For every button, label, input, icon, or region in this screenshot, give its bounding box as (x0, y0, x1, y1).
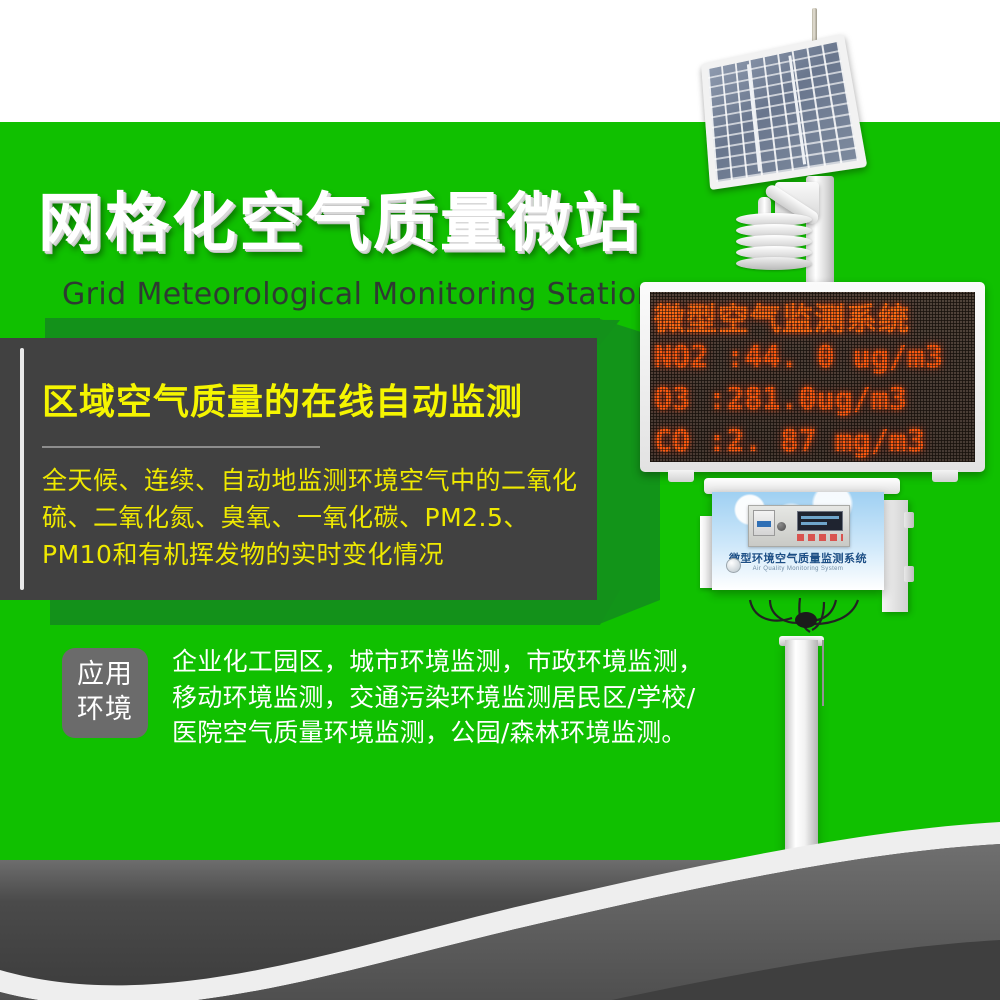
footer-wave-divider (0, 820, 1000, 1000)
led-row-co: CO :2. 87 mg/m3 (654, 424, 971, 459)
application-badge-line1: 应用 (77, 658, 133, 693)
led-row-no2: NO2 :44. 0 ug/m3 (654, 340, 971, 375)
radiation-shield-icon (736, 213, 812, 275)
page-subtitle: Grid Meteorological Monitoring Station (62, 278, 656, 311)
application-badge: 应用 环境 (62, 648, 148, 738)
led-display-frame: 微型空气监测系统 NO2 :44. 0 ug/m3 O3 :281.0ug/m3… (640, 282, 985, 472)
solar-panel-icon (692, 35, 862, 188)
led-display-screen: 微型空气监测系统 NO2 :44. 0 ug/m3 O3 :281.0ug/m3… (650, 292, 975, 462)
cabinet-instrument-panel (748, 505, 850, 547)
feature-panel-accent-rule (20, 348, 24, 590)
led-display-header: 微型空气监测系统 (654, 294, 971, 339)
application-badge-line2: 环境 (77, 693, 133, 728)
circuit-breaker-icon (753, 510, 775, 536)
feature-panel-heading: 区域空气质量的在线自动监测 (42, 385, 582, 421)
cabinet-lock-icon (726, 558, 741, 573)
probe-rod (822, 640, 824, 706)
controller-button-row (797, 534, 843, 541)
led-row-o3: O3 :281.0ug/m3 (654, 382, 971, 417)
controller-lcd-icon (797, 511, 843, 531)
cabinet-door: 微型环境空气质量监测系统 Air Quality Monitoring Syst… (712, 492, 884, 590)
cabinet-hinge-top (904, 512, 914, 528)
panel-knob-icon (777, 522, 786, 531)
led-frame-foot-right (932, 470, 958, 482)
cabinet-hinge-bottom (904, 566, 914, 582)
feature-panel-body: 全天候、连续、自动地监测环境空气中的二氧化硫、二氧化氮、臭氧、一氧化碳、PM2.… (42, 462, 587, 573)
feature-panel-divider (42, 446, 320, 448)
led-frame-foot-left (668, 470, 694, 482)
page-title: 网格化空气质量微站 (38, 192, 641, 256)
poster-canvas: 网格化空气质量微站 Grid Meteorological Monitoring… (0, 0, 1000, 1000)
